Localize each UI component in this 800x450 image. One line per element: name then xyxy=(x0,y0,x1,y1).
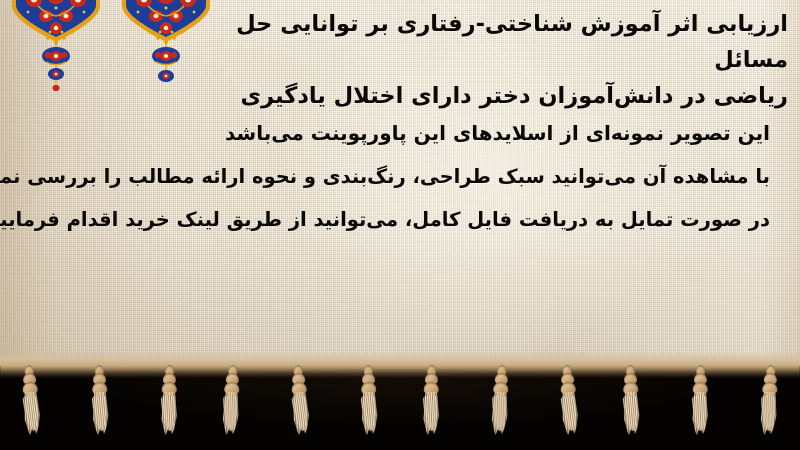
carpet-fringe-tassel xyxy=(753,362,784,443)
carpet-fringe-tassel xyxy=(686,363,714,443)
black-backdrop-band xyxy=(0,366,800,450)
slide-body-text: این تصویر نمونه‌ای از اسلایدهای این پاور… xyxy=(25,112,770,241)
slide-canvas: ارزیابی اثر آموزش شناختی-رفتاری بر توانا… xyxy=(0,0,800,450)
body-line-2: با مشاهده آن می‌توانید سبک طراحی، رنگ‌بن… xyxy=(25,155,770,198)
carpet-fringe-tassel xyxy=(86,363,114,443)
slide-title: ارزیابی اثر آموزش شناختی-رفتاری بر توانا… xyxy=(228,6,788,114)
carpet-fringe-tassel xyxy=(618,363,646,443)
carpet-fringe-tassel xyxy=(155,363,183,443)
carpet-fringe-tassel xyxy=(355,363,383,443)
carpet-fringe-tassel xyxy=(285,362,316,443)
carpet-fringe-tassel xyxy=(216,362,247,443)
carpet-selvage-edge xyxy=(0,352,800,378)
carpet-fringe-tassel xyxy=(418,363,446,443)
body-line-3: در صورت تمایل به دریافت فایل کامل، می‌تو… xyxy=(25,198,770,241)
carpet-fringe-tassel xyxy=(553,362,584,443)
text-layer: ارزیابی اثر آموزش شناختی-رفتاری بر توانا… xyxy=(0,0,800,380)
slide-title-line-1: ارزیابی اثر آموزش شناختی-رفتاری بر توانا… xyxy=(236,11,788,73)
carpet-fringe-tassel xyxy=(485,362,516,443)
slide-title-line-2: ریاضی در دانش‌آموزان دختر دارای اختلال ی… xyxy=(240,83,788,109)
carpet-fringe-tassel xyxy=(16,362,47,443)
body-line-1: این تصویر نمونه‌ای از اسلایدهای این پاور… xyxy=(25,112,770,155)
